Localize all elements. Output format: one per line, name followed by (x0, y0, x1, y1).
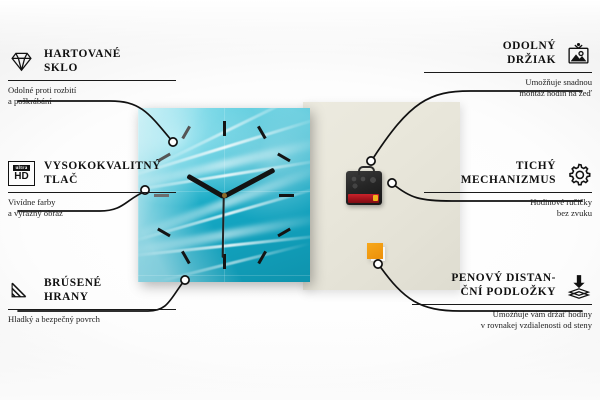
divider (424, 72, 592, 73)
feature-title-line2: HRANY (44, 291, 102, 304)
feature-title: ODOLNÝ DRŽIAK (503, 40, 556, 67)
feature-title-line1: PENOVÝ DISTAN- (451, 272, 556, 285)
connector-node (367, 157, 375, 165)
feature-beveled-edges: BRÚSENÉ HRANY Hladký a bezpečný povrch (8, 277, 176, 325)
picture-hanger-icon (565, 40, 592, 67)
feature-title: PENOVÝ DISTAN- ČNÍ PODLOŽKY (451, 272, 556, 299)
ultra-hd-icon: ultra HD (8, 160, 35, 187)
feature-title: TICHÝ MECHANIZMUS (461, 160, 556, 187)
feature-desc-line2: bez zvuku (424, 208, 592, 219)
feature-description: Vivídne farby a výrazný obraz (8, 197, 176, 219)
divider (424, 192, 592, 193)
feature-desc-line1: Umožňuje vám držať hodiny (412, 309, 592, 320)
beveled-edges-icon (8, 277, 35, 304)
connector-node (388, 179, 396, 187)
feature-title: HARTOVANÉ SKLO (44, 48, 121, 75)
feature-desc-line1: Vivídne farby (8, 197, 176, 208)
product-infographic: HARTOVANÉ SKLO Odolné proti rozbití a po… (0, 0, 600, 400)
feature-title-line1: TICHÝ (461, 160, 556, 173)
feature-header: PENOVÝ DISTAN- ČNÍ PODLOŽKY (412, 272, 592, 299)
feature-title: VYSOKOKVALITNÝ TLAČ (44, 160, 161, 187)
feature-title-line2: SKLO (44, 62, 121, 75)
feature-desc-line1: Hladký a bezpečný povrch (8, 314, 176, 325)
feature-silent-mechanism: TICHÝ MECHANIZMUS Hodinové ručičky bez z… (424, 160, 592, 219)
feature-header: ultra HD VYSOKOKVALITNÝ TLAČ (8, 160, 176, 187)
divider (412, 304, 592, 305)
feature-title-line1: BRÚSENÉ (44, 277, 102, 290)
feature-header: HARTOVANÉ SKLO (8, 48, 176, 75)
divider (8, 192, 176, 193)
divider (8, 80, 176, 81)
feature-desc-line1: Odolné proti rozbití (8, 85, 176, 96)
feature-header: TICHÝ MECHANIZMUS (424, 160, 592, 187)
feature-desc-line1: Hodinové ručičky (424, 197, 592, 208)
ultra-hd-icon-bottom-text: HD (14, 172, 28, 182)
diamond-icon (8, 48, 35, 75)
feature-title-line2: DRŽIAK (503, 54, 556, 67)
feature-desc-line2: montáž hodin na zeď (424, 88, 592, 99)
gear-icon (565, 160, 592, 187)
feature-description: Umožňuje vám držať hodiny v rovnakej vzd… (412, 309, 592, 331)
connector-node (374, 260, 382, 268)
feature-high-quality-print: ultra HD VYSOKOKVALITNÝ TLAČ Vivídne far… (8, 160, 176, 219)
connector-node (181, 276, 189, 284)
feature-tempered-glass: HARTOVANÉ SKLO Odolné proti rozbití a po… (8, 48, 176, 107)
feature-header: ODOLNÝ DRŽIAK (424, 40, 592, 67)
feature-title-line1: HARTOVANÉ (44, 48, 121, 61)
feature-title-line1: VYSOKOKVALITNÝ (44, 160, 161, 173)
feature-foam-spacers: PENOVÝ DISTAN- ČNÍ PODLOŽKY Umožňuje vám… (412, 272, 592, 331)
feature-title-line1: ODOLNÝ (503, 40, 556, 53)
feature-header: BRÚSENÉ HRANY (8, 277, 176, 304)
feature-durable-hanger: ODOLNÝ DRŽIAK Umožňuje snadnou montáž ho… (424, 40, 592, 99)
feature-description: Hladký a bezpečný povrch (8, 314, 176, 325)
feature-desc-line2: a poškrábání (8, 96, 176, 107)
divider (8, 309, 176, 310)
feature-title-line2: TLAČ (44, 174, 161, 187)
feature-title: BRÚSENÉ HRANY (44, 277, 102, 304)
feature-description: Hodinové ručičky bez zvuku (424, 197, 592, 219)
feature-desc-line1: Umožňuje snadnou (424, 77, 592, 88)
feature-description: Odolné proti rozbití a poškrábání (8, 85, 176, 107)
feature-desc-line2: a výrazný obraz (8, 208, 176, 219)
feature-title-line2: MECHANIZMUS (461, 174, 556, 187)
feature-description: Umožňuje snadnou montáž hodin na zeď (424, 77, 592, 99)
connector-node (169, 138, 177, 146)
feature-desc-line2: v rovnakej vzdialenosti od steny (412, 320, 592, 331)
press-down-layers-icon (565, 272, 592, 299)
feature-title-line2: ČNÍ PODLOŽKY (451, 286, 556, 299)
